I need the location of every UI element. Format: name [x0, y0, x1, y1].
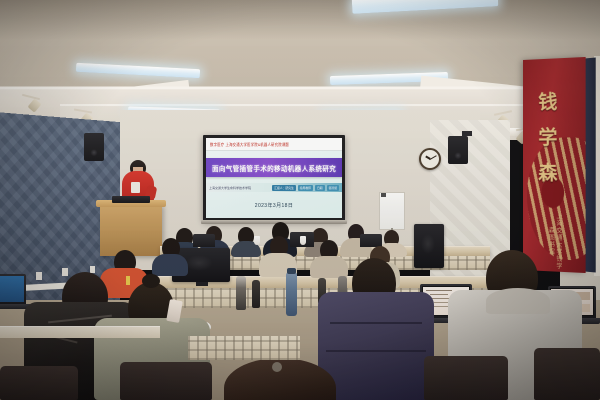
bottle-cap — [287, 268, 296, 274]
paper-cup — [254, 236, 260, 245]
slide-nav-tab: 答辩组 — [327, 185, 339, 191]
slide-footer-label: 上海交通大学生命科学技术学院 — [209, 186, 251, 190]
wall-speaker-right — [448, 136, 468, 164]
laptop-screen — [0, 276, 24, 302]
presentation-slide: 数字医疗 上海交通大学医学院&机器人研究院课题 面向气管插管手术的移动机器人系统… — [206, 138, 342, 218]
chair-back — [120, 362, 212, 400]
qian-xuesen-banner: 钱 学 森 上海交通大学钱学森图书馆 — [523, 57, 586, 273]
ceiling-shadow — [0, 0, 600, 40]
chair-back — [0, 366, 78, 400]
attendee-torso — [310, 256, 348, 278]
wall-outlet — [62, 268, 68, 276]
wall-outlet — [36, 272, 42, 280]
banner-char-1: 钱 — [538, 93, 557, 113]
thermos-bottle — [236, 276, 246, 310]
desk-row-front — [0, 326, 160, 338]
slide-header-text: 数字医疗 上海交通大学医学院&机器人研究院课题 — [210, 141, 289, 147]
slide-nav-tab: 日期 — [315, 185, 325, 191]
hoodie-hood — [486, 288, 550, 314]
monitor-glare — [421, 234, 435, 254]
monitor-stand — [196, 282, 208, 286]
wall-clock — [419, 148, 441, 170]
banner-side-panel — [584, 58, 595, 273]
laptop-code-line — [430, 294, 448, 295]
wall-speaker-left — [84, 133, 104, 161]
slide-nav-tab: 汇报人：研究生 — [272, 185, 296, 191]
monitor-glare — [185, 255, 213, 271]
attendee-lanyard — [126, 276, 130, 285]
podium-laptop — [112, 196, 150, 203]
slide-nav-tabs: 汇报人：研究生 指导教师 日期 答辩组 — [272, 185, 339, 191]
chair-back — [424, 356, 508, 400]
banner-characters: 钱 学 森 — [533, 93, 563, 184]
desk-caster-wheel — [272, 362, 282, 372]
slide-nav-bar: 上海交通大学生命科学技术学院 汇报人：研究生 指导教师 日期 答辩组 — [206, 183, 342, 192]
laptop-code-line — [426, 290, 452, 291]
desk-panel-front — [188, 336, 300, 360]
attendee-torso — [152, 254, 188, 276]
desktop-monitor — [414, 224, 444, 268]
slide-nav-tab: 指导教师 — [298, 185, 313, 191]
banner-subtitle: 上海交通大学钱学森图书馆 — [537, 210, 561, 272]
seminar-room-photo: 钱 学 森 上海交通大学钱学森图书馆 数字医疗 上海交通大学医学院&机器人研究院… — [0, 0, 600, 400]
slide-date: 2023年3月18日 — [255, 202, 293, 209]
hair-bun — [142, 274, 160, 288]
laptop-lid — [193, 234, 215, 247]
whiteboard-clip — [381, 193, 386, 197]
slide-header-bar: 数字医疗 上海交通大学医学院&机器人研究院课题 — [206, 138, 342, 151]
whiteboard-easel — [379, 192, 405, 230]
slide-title: 面向气管插管手术的移动机器人系统研究 — [212, 163, 336, 173]
slide-body: 2023年3月18日 — [206, 192, 342, 218]
projection-screen: 数字医疗 上海交通大学医学院&机器人研究院课题 面向气管插管手术的移动机器人系统… — [203, 135, 345, 221]
puffer-quilt-line — [330, 322, 422, 324]
paper-cup — [300, 236, 306, 245]
banner-char-3: 森 — [538, 164, 557, 183]
podium — [100, 204, 162, 256]
puffer-quilt-line — [326, 350, 426, 352]
slide-title-band: 面向气管插管手术的移动机器人系统研究 — [206, 158, 342, 177]
clock-minute-hand — [430, 155, 437, 160]
laptop-code-line — [434, 302, 448, 303]
water-bottle — [286, 272, 297, 316]
chair-back — [534, 348, 600, 400]
presenter-hoodie-graphic — [131, 182, 140, 193]
banner-char-2: 学 — [538, 128, 557, 147]
speaker-bracket — [462, 131, 472, 136]
thermos-bottle — [252, 280, 260, 308]
